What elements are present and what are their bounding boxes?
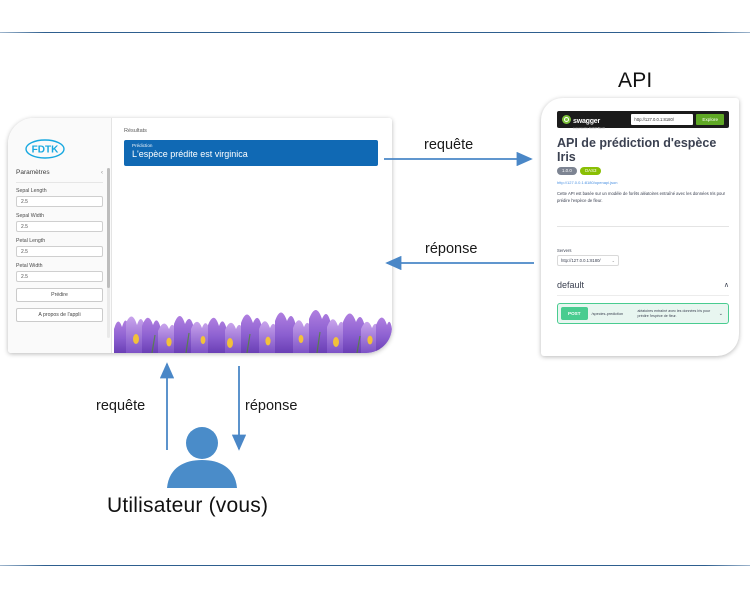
field-label: Sepal Length (16, 188, 103, 194)
section-title: default (557, 280, 584, 290)
chevron-down-icon: ⌄ (612, 258, 615, 263)
explore-button[interactable]: Explore (696, 114, 724, 125)
field-label: Sepal Width (16, 213, 103, 219)
api-swagger-screenshot: swagger supported by SMARTBEAR http://12… (541, 98, 739, 356)
swagger-logo-subtext: supported by SMARTBEAR (573, 127, 605, 130)
fdtk-logo-icon: FDTK (24, 139, 66, 159)
webapp-field-list: Sepal Length 2.5 Sepal Width 2.5 Petal L… (16, 188, 103, 322)
prediction-kicker: Prédiction (132, 143, 370, 148)
arrow-label-response-vertical: réponse (245, 398, 297, 414)
api-oas-badge: OAS3 (580, 167, 602, 175)
chevron-up-icon: ∧ (724, 281, 729, 289)
web-app-screenshot: FDTK Paramètres ‹ Sepal Length 2.5 Sepal… (8, 118, 392, 353)
section-header[interactable]: default ∧ (557, 280, 729, 296)
swagger-info-block: API de prédiction d'espèce Iris 1.0.0 OA… (557, 136, 729, 204)
predict-button[interactable]: Prédire (16, 288, 103, 302)
webapp-params-heading: Paramètres ‹ (16, 169, 103, 176)
page-title-api: API (618, 69, 652, 93)
swagger-topbar: swagger supported by SMARTBEAR http://12… (557, 111, 729, 128)
slide-top-rule (0, 32, 750, 33)
operation-path: /species-prediction (592, 307, 634, 320)
field-sepal-width: Sepal Width 2.5 (16, 213, 103, 232)
api-version-badge: 1.0.0 (557, 167, 577, 175)
collapse-chevron-icon[interactable]: ‹ (101, 170, 103, 176)
http-method-badge: POST (561, 307, 588, 320)
page-title-user: Utilisateur (vous) (107, 494, 268, 518)
api-operation-row[interactable]: POST /species-prediction aléatoires entr… (557, 303, 729, 324)
swagger-logo-text: swagger (573, 118, 600, 125)
iris-flowers-image (112, 279, 392, 353)
servers-select[interactable]: http://127.0.0.1:8180/ ⌄ (557, 255, 619, 266)
svg-text:FDTK: FDTK (32, 145, 59, 156)
swagger-logo-icon (562, 115, 571, 124)
openapi-spec-link[interactable]: http://127.0.0.1:8180/openapi.json (557, 180, 729, 185)
field-petal-width: Petal Width 2.5 (16, 263, 103, 282)
arrow-label-request-vertical: requête (96, 398, 145, 414)
api-badges: 1.0.0 OAS3 (557, 167, 729, 175)
api-title: API de prédiction d'espèce Iris (557, 136, 729, 164)
sidebar-divider (16, 182, 103, 183)
webapp-sidebar: FDTK Paramètres ‹ Sepal Length 2.5 Sepal… (8, 118, 112, 353)
field-sepal-length: Sepal Length 2.5 (16, 188, 103, 207)
webapp-params-heading-label: Paramètres (16, 169, 50, 176)
webapp-results-panel: Résultats Prédiction L'espèce prédite es… (112, 118, 392, 353)
arrow-label-response-horizontal: réponse (425, 241, 477, 257)
swagger-url-input[interactable]: http://127.0.0.1:8180/ (631, 114, 693, 125)
field-label: Petal Width (16, 263, 103, 269)
sidebar-scrollbar[interactable] (107, 168, 110, 338)
prediction-text: L'espèce prédite est virginica (132, 149, 370, 159)
petal-length-input[interactable]: 2.5 (16, 246, 103, 257)
api-description: Cette API est basée sur un modèle de for… (557, 191, 729, 203)
sepal-length-input[interactable]: 2.5 (16, 196, 103, 207)
servers-label: Servers (557, 248, 571, 253)
arrow-label-request-horizontal: requête (424, 137, 473, 153)
slide-bottom-rule (0, 565, 750, 566)
servers-select-value: http://127.0.0.1:8180/ (561, 258, 601, 263)
api-default-section: default ∧ POST /species-prediction aléat… (557, 280, 729, 342)
field-petal-length: Petal Length 2.5 (16, 238, 103, 257)
operation-summary: aléatoires entraîné avec les données Iri… (638, 307, 715, 320)
swagger-logo: swagger supported by SMARTBEAR (562, 110, 631, 130)
field-label: Petal Length (16, 238, 103, 244)
results-heading: Résultats (124, 128, 147, 134)
user-avatar-icon (163, 426, 241, 488)
about-app-button[interactable]: A propos de l'appli (16, 308, 103, 322)
sepal-width-input[interactable]: 2.5 (16, 221, 103, 232)
prediction-banner: Prédiction L'espèce prédite est virginic… (124, 140, 378, 166)
swagger-divider (557, 226, 729, 227)
petal-width-input[interactable]: 2.5 (16, 271, 103, 282)
chevron-down-icon: ⌄ (719, 307, 725, 320)
